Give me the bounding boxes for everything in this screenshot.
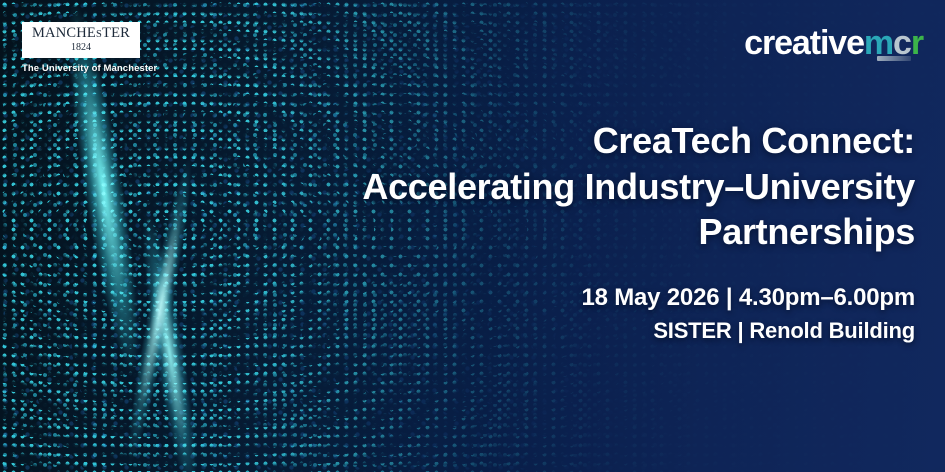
uom-logo-box: MANCHESTER 1824 <box>22 22 140 58</box>
event-title-line-2: Accelerating Industry–University <box>275 164 915 210</box>
event-title-line-3: Partnerships <box>275 209 915 255</box>
uom-tagline: The University of Manchester <box>22 63 140 74</box>
creativemcr-letter-c: c <box>893 26 911 60</box>
event-text-block: CreaTech Connect: Accelerating Industry–… <box>275 118 915 346</box>
event-title-line-1: CreaTech Connect: <box>275 118 915 164</box>
creativemcr-letter-m: m <box>864 26 893 60</box>
uom-year: 1824 <box>71 42 91 54</box>
event-banner: MANCHESTER 1824 The University of Manche… <box>0 0 945 472</box>
uom-wordmark-text: MANCHESTER <box>32 25 130 41</box>
university-of-manchester-logo: MANCHESTER 1824 The University of Manche… <box>22 22 140 74</box>
event-title: CreaTech Connect: Accelerating Industry–… <box>275 118 915 255</box>
creativemcr-word-creative: creative <box>744 26 864 60</box>
creativemcr-underline-mark <box>877 56 911 61</box>
event-details: 18 May 2026 | 4.30pm–6.00pm SISTER | Ren… <box>275 281 915 346</box>
creativemcr-letter-r: r <box>911 26 923 60</box>
event-venue: SISTER | Renold Building <box>275 315 915 346</box>
creativemcr-logo: creativemcr <box>744 26 923 60</box>
uom-wordmark: MANCHESTER <box>32 26 130 41</box>
event-date-time: 18 May 2026 | 4.30pm–6.00pm <box>275 281 915 315</box>
